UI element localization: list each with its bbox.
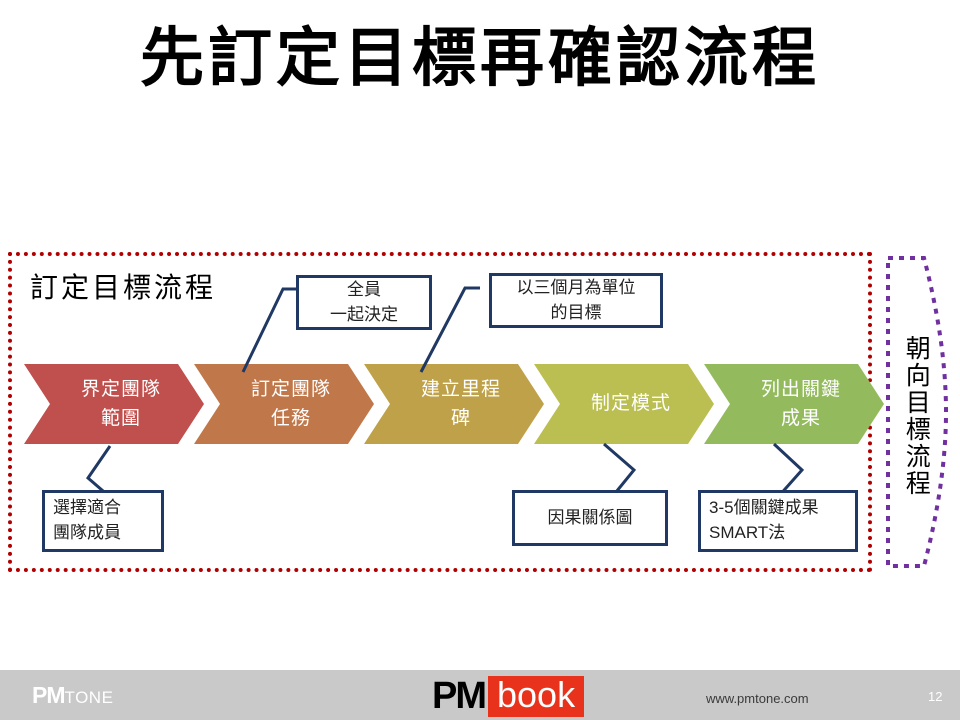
callout-key-results-line1: 3-5個關鍵成果 [709, 496, 819, 521]
process-heading: 訂定目標流程 [30, 266, 216, 306]
callout-cause-effect[interactable]: 因果關係圖 [512, 490, 668, 546]
callout-cause-effect-line1: 因果關係圖 [548, 506, 633, 531]
process-step-2-line1: 訂定團隊 [251, 375, 331, 404]
pmbook-logo-pm: PM [432, 677, 485, 715]
process-step-2[interactable]: 訂定團隊 任務 [194, 364, 374, 444]
process-step-1[interactable]: 界定團隊 範圍 [24, 364, 204, 444]
footer-url[interactable]: www.pmtone.com [706, 691, 809, 706]
process-step-4[interactable]: 制定模式 [534, 364, 714, 444]
process-step-4-line1: 制定模式 [591, 389, 671, 418]
process-step-3-line2: 碑 [421, 404, 501, 433]
callout-all-decide-line1: 全員 [347, 278, 381, 303]
callout-key-results-line2: SMART法 [709, 521, 785, 546]
page-number: 12 [928, 689, 942, 704]
pmbook-logo[interactable]: PM book [432, 676, 584, 717]
pmtone-logo-main: PM [32, 682, 65, 708]
callout-quarterly-line2: 的目標 [551, 301, 602, 326]
process-step-5-line1: 列出關鍵 [761, 375, 841, 404]
process-step-3[interactable]: 建立里程 碑 [364, 364, 544, 444]
callout-members-line2: 團隊成員 [53, 521, 121, 546]
callout-all-decide[interactable]: 全員 一起決定 [296, 275, 432, 330]
process-step-4-label: 制定模式 [577, 389, 671, 418]
chevron-row: 界定團隊 範圍 訂定團隊 任務 建立里程 碑 制定模式 列出關鍵 成果 [0, 364, 960, 444]
process-step-5-line2: 成果 [761, 404, 841, 433]
callout-key-results[interactable]: 3-5個關鍵成果 SMART法 [698, 490, 858, 552]
pmtone-logo-suffix: TONE [65, 688, 114, 707]
process-step-3-label: 建立里程 碑 [407, 375, 501, 434]
process-step-5[interactable]: 列出關鍵 成果 [704, 364, 884, 444]
callout-members-line1: 選擇適合 [53, 496, 121, 521]
callout-all-decide-line2: 一起決定 [330, 303, 398, 328]
pmtone-logo[interactable]: PMTONE [32, 684, 113, 707]
process-step-1-line1: 界定團隊 [81, 375, 161, 404]
callout-quarterly[interactable]: 以三個月為單位 的目標 [489, 273, 663, 328]
page-title: 先訂定目標再確認流程 [0, 22, 960, 96]
process-step-1-label: 界定團隊 範圍 [67, 375, 161, 434]
callout-members[interactable]: 選擇適合 團隊成員 [42, 490, 164, 552]
process-step-2-line2: 任務 [251, 404, 331, 433]
pmbook-logo-book: book [488, 676, 584, 717]
process-step-5-label: 列出關鍵 成果 [747, 375, 841, 434]
process-step-2-label: 訂定團隊 任務 [237, 375, 331, 434]
process-step-1-line2: 範圍 [81, 404, 161, 433]
process-step-3-line1: 建立里程 [421, 375, 501, 404]
callout-quarterly-line1: 以三個月為單位 [517, 276, 636, 301]
